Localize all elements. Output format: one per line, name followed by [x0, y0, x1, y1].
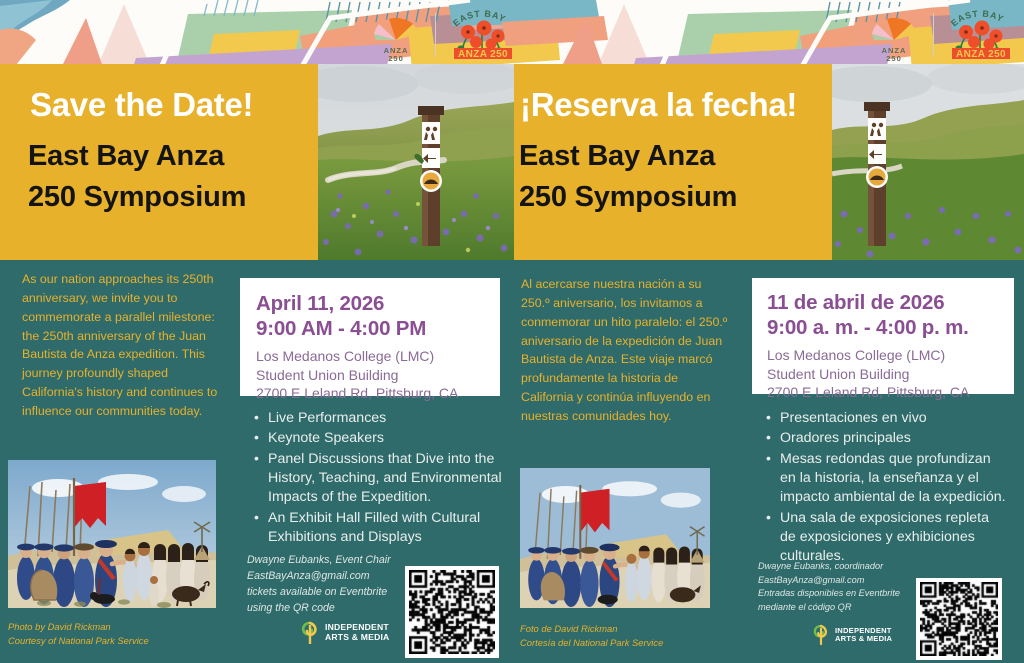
iam-mark-icon	[300, 621, 320, 645]
eventbrite-qr-code-spanish[interactable]	[916, 578, 1002, 660]
symposium-title-english: East Bay Anza 250 Symposium	[28, 136, 246, 218]
contact-email-spanish[interactable]: EastBayAnza@gmail.com	[758, 574, 923, 588]
event-time-english: 9:00 AM - 4:00 PM	[256, 317, 484, 342]
contact-tickets-line1-spanish: Entradas disponibles en Eventbrite	[758, 587, 923, 601]
anza-250-logo: ANZA 250	[367, 6, 425, 64]
list-item: An Exhibit Hall Filled with Cultural Exh…	[252, 509, 504, 548]
anza-logo-line2: 250	[388, 54, 404, 63]
logo-divider	[933, 13, 934, 57]
venue-line2-spanish: Student Union Building	[767, 365, 999, 384]
iam-wordmark: INDEPENDENT ARTS & MEDIA	[325, 623, 389, 642]
intro-paragraph-spanish: Al acercarse nuestra nación a su 250.º a…	[521, 275, 733, 426]
venue-line1-english: Los Medanos College (LMC)	[256, 347, 484, 366]
iam-line2: ARTS & MEDIA	[325, 633, 389, 643]
symposium-title-line1-spanish: East Bay Anza	[519, 136, 737, 177]
list-item: Una sala de exposiciones repleta de expo…	[764, 509, 1008, 567]
photo-credit-spanish: Foto de David Rickman Cortesía del Natio…	[520, 622, 700, 650]
photo-credit-line1-spanish: Foto de David Rickman	[520, 622, 700, 636]
save-the-date-heading-spanish: ¡Reserva la fecha!	[520, 86, 797, 124]
symposium-title-spanish: East Bay Anza 250 Symposium	[519, 136, 737, 218]
eastbay-logo-banner-text: ANZA 250	[458, 49, 508, 60]
program-bullet-list-english: Live Performances Keynote Speakers Panel…	[252, 409, 504, 548]
contact-chair-english: Dwayne Eubanks, Event Chair	[247, 553, 407, 569]
photo-credit-line1-english: Photo by David Rickman	[8, 620, 178, 634]
east-bay-anza-250-logo: EAST BAY	[944, 6, 1016, 64]
header-logo-group-english: ANZA 250 EAST BAY	[367, 4, 518, 66]
poster-root: ANZA 250 EAST BAY	[0, 0, 1024, 663]
iam-mark-icon	[812, 624, 830, 646]
save-the-date-heading-english: Save the Date!	[30, 86, 253, 124]
photo-credit-line2-english: Courtesy of National Park Service	[8, 634, 178, 648]
contact-chair-spanish: Dwayne Eubanks, coordinador	[758, 560, 923, 574]
symposium-title-line1-english: East Bay Anza	[28, 136, 246, 177]
contact-tickets-line2-english: using the QR code	[247, 601, 407, 617]
event-time-spanish: 9:00 a. m. - 4:00 p. m.	[767, 316, 999, 341]
list-item: Oradores principales	[764, 429, 1008, 448]
anza-expedition-painting-spanish	[520, 468, 710, 608]
date-venue-box-spanish: 11 de abril de 2026 9:00 a. m. - 4:00 p.…	[752, 278, 1014, 394]
venue-line3-spanish: 2700 E Leland Rd, Pittsburg, CA	[767, 383, 999, 402]
eastbay-logo-banner-text: ANZA 250	[956, 49, 1006, 60]
list-item: Panel Discussions that Dive into the His…	[252, 450, 504, 508]
header-logo-group-spanish: ANZA 250 EAST BAY	[865, 4, 1016, 66]
iam-line2: ARTS & MEDIA	[835, 635, 892, 644]
anza-logo-line2: 250	[886, 54, 902, 63]
decorative-header-banner: ANZA 250 EAST BAY	[0, 0, 1024, 70]
hero-band: Save the Date! East Bay Anza 250 Symposi…	[0, 64, 1024, 260]
independent-arts-and-media-logo-english: INDEPENDENT ARTS & MEDIA	[300, 621, 389, 645]
list-item: Keynote Speakers	[252, 429, 504, 448]
venue-line1-spanish: Los Medanos College (LMC)	[767, 346, 999, 365]
anza-250-logo: ANZA 250	[865, 6, 923, 64]
east-bay-anza-250-logo: EAST BAY	[446, 6, 518, 64]
contact-block-spanish: Dwayne Eubanks, coordinador EastBayAnza@…	[758, 560, 923, 614]
anza-expedition-painting-english	[8, 460, 216, 608]
list-item: Mesas redondas que profundizan en la his…	[764, 450, 1008, 508]
symposium-title-line2-english: 250 Symposium	[28, 177, 246, 218]
venue-line2-english: Student Union Building	[256, 366, 484, 385]
list-item: Presentaciones en vivo	[764, 409, 1008, 428]
event-date-spanish: 11 de abril de 2026	[767, 291, 999, 316]
intro-paragraph-english: As our nation approaches its 250th anniv…	[22, 270, 218, 421]
contact-email-english[interactable]: EastBayAnza@gmail.com	[247, 569, 407, 585]
photo-credit-line2-spanish: Cortesía del National Park Service	[520, 636, 700, 650]
date-venue-box-english: April 11, 2026 9:00 AM - 4:00 PM Los Med…	[240, 278, 500, 396]
contact-tickets-line2-spanish: mediante el código QR	[758, 601, 923, 615]
symposium-title-line2-spanish: 250 Symposium	[519, 177, 737, 218]
list-item: Live Performances	[252, 409, 504, 428]
event-date-english: April 11, 2026	[256, 292, 484, 317]
anza-trail-marker-photo-spanish	[832, 64, 1024, 260]
venue-line3-english: 2700 E Leland Rd, Pittsburg, CA	[256, 384, 484, 403]
anza-trail-marker-photo-english	[318, 64, 514, 260]
independent-arts-and-media-logo-spanish: INDEPENDENT ARTS & MEDIA	[812, 624, 892, 646]
iam-wordmark: INDEPENDENT ARTS & MEDIA	[835, 627, 892, 644]
eventbrite-qr-code-english[interactable]	[405, 566, 499, 658]
contact-block-english: Dwayne Eubanks, Event Chair EastBayAnza@…	[247, 553, 407, 617]
photo-credit-english: Photo by David Rickman Courtesy of Natio…	[8, 620, 178, 648]
contact-tickets-line1-english: tickets available on Eventbrite	[247, 585, 407, 601]
logo-divider	[435, 13, 436, 57]
program-bullet-list-spanish: Presentaciones en vivo Oradores principa…	[764, 409, 1008, 568]
